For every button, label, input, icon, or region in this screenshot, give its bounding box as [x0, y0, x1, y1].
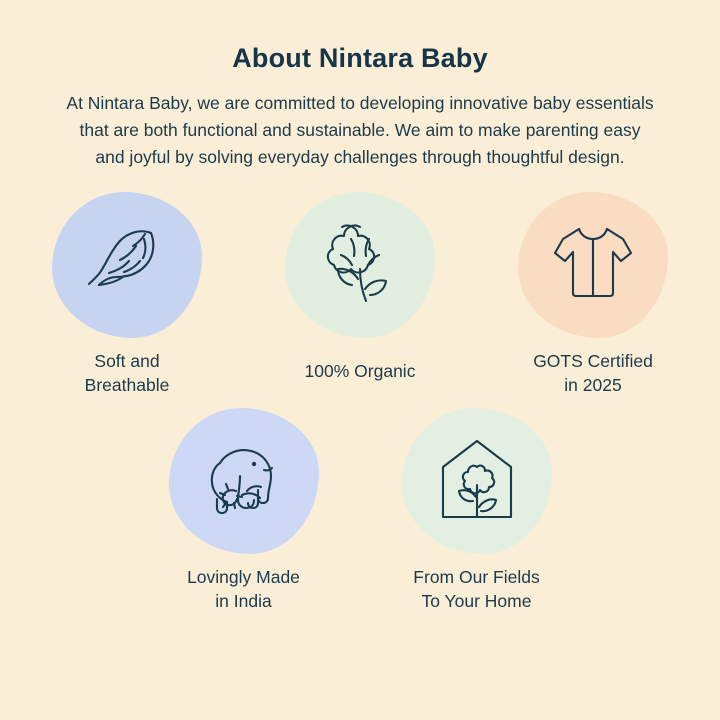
feature-icon-badge — [52, 192, 202, 338]
cotton-flower-icon — [305, 210, 415, 320]
feature-label: GOTS Certified in 2025 — [533, 350, 653, 398]
feature-label: From Our Fields To Your Home — [413, 566, 539, 614]
intro-paragraph: At Nintara Baby, we are committed to dev… — [65, 90, 655, 170]
elephant-icon — [189, 426, 299, 536]
feature-item-organic: 100% Organic — [260, 192, 460, 384]
feature-item-fields-to-home: From Our Fields To Your Home — [377, 408, 577, 614]
about-section: About Nintara Baby At Nintara Baby, we a… — [0, 0, 720, 720]
house-plant-icon — [422, 426, 532, 536]
feature-row-bottom: Lovingly Made in India From Our Fields T… — [0, 408, 720, 614]
feature-label: Lovingly Made in India — [187, 566, 300, 614]
feature-row-top: Soft and Breathable — [0, 192, 720, 398]
feature-icon-badge — [518, 192, 668, 338]
tshirt-icon — [538, 210, 648, 320]
feature-icon-badge — [169, 408, 319, 554]
feature-label: 100% Organic — [305, 360, 416, 384]
feather-icon — [72, 210, 182, 320]
feature-icon-badge — [402, 408, 552, 554]
feature-label: Soft and Breathable — [85, 350, 170, 398]
feature-item-made-in-india: Lovingly Made in India — [144, 408, 344, 614]
feature-item-gots-certified: GOTS Certified in 2025 — [493, 192, 693, 398]
feature-item-soft-breathable: Soft and Breathable — [27, 192, 227, 398]
page-title: About Nintara Baby — [0, 0, 720, 74]
feature-icon-badge — [285, 192, 435, 338]
